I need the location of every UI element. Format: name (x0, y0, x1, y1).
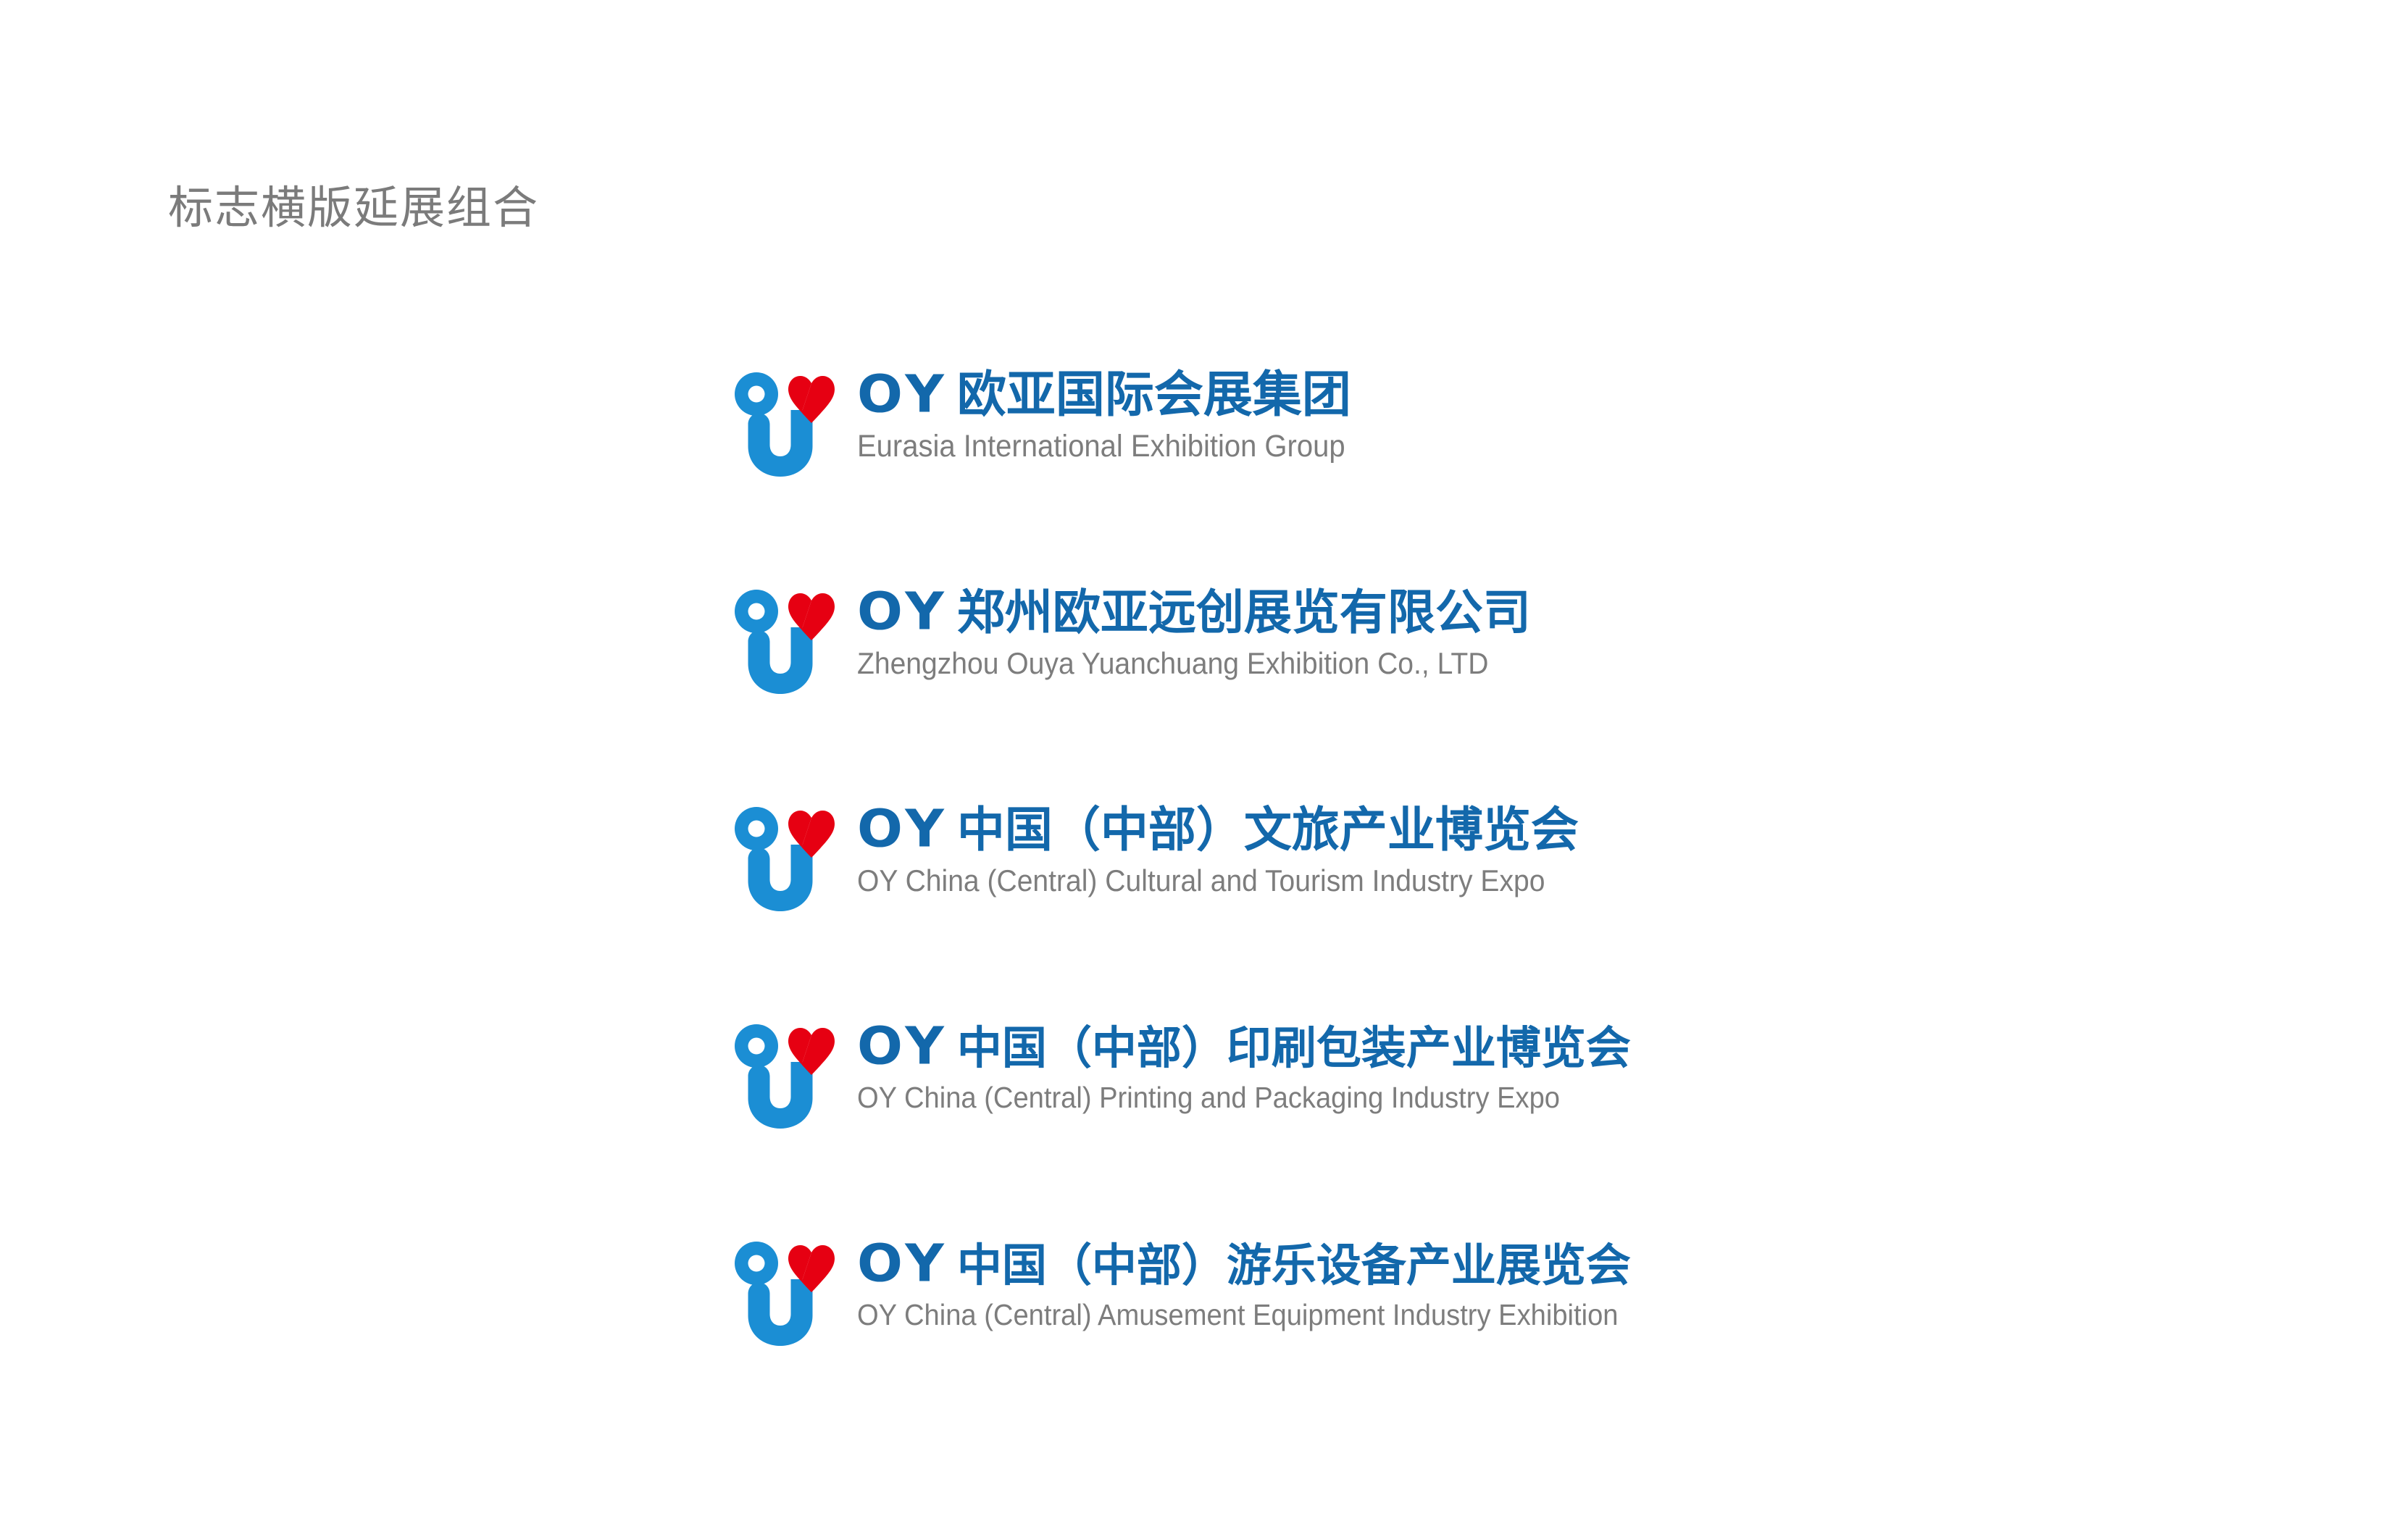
oy-wordmark: OY (857, 586, 948, 637)
lockup-english-tagline: Eurasia International Exhibition Group (857, 430, 2152, 463)
logo-lockup-zhengzhou-ouya-yuanchuang: OY 郑州欧亚远创展览有限公司 Zhengzhou Ouya Yuanchuan… (728, 579, 2250, 695)
lockup-chinese-name: 郑州欧亚远创展览有限公司 (957, 589, 1531, 637)
lockup-text-block: OY 中国（中部）文旅产业博览会 OY China (Central) Cult… (838, 797, 2250, 897)
lockup-primary-line: OY 欧亚国际会展集团 (857, 367, 2250, 420)
logo-lockup-list: OY 欧亚国际会展集团 Eurasia International Exhibi… (728, 362, 2250, 1347)
oy-logo-mark-icon (728, 807, 838, 914)
lockup-primary-line: OY 中国（中部）印刷包装产业博览会 (857, 1018, 2250, 1072)
lockup-chinese-name: 中国（中部）文旅产业博览会 (957, 806, 1579, 854)
lockup-text-block: OY 欧亚国际会展集团 Eurasia International Exhibi… (838, 362, 2250, 463)
lockup-english-tagline: OY China (Central) Printing and Packagin… (857, 1082, 2152, 1113)
lockup-chinese-name: 欧亚国际会展集团 (957, 371, 1351, 420)
lockup-text-block: OY 中国（中部）印刷包装产业博览会 OY China (Central) Pr… (838, 1014, 2250, 1113)
logo-lockup-printing-packaging-expo: OY 中国（中部）印刷包装产业博览会 OY China (Central) Pr… (728, 1014, 2250, 1130)
oy-logo-mark-icon (728, 372, 838, 480)
oy-wordmark: OY (857, 369, 948, 420)
oy-logo-mark-icon (728, 1024, 838, 1131)
lockup-primary-line: OY 中国（中部）文旅产业博览会 (857, 801, 2250, 855)
oy-logo-mark-icon (728, 1242, 838, 1349)
lockup-primary-line: OY 郑州欧亚远创展览有限公司 (857, 584, 2250, 637)
oy-logo-mark-icon (728, 590, 838, 697)
logo-lockup-cultural-tourism-expo: OY 中国（中部）文旅产业博览会 OY China (Central) Cult… (728, 797, 2250, 913)
oy-wordmark: OY (857, 803, 948, 855)
lockup-english-tagline: OY China (Central) Amusement Equipment I… (857, 1300, 2152, 1331)
lockup-chinese-name: 中国（中部）印刷包装产业博览会 (957, 1026, 1631, 1071)
lockup-primary-line: OY 中国（中部）游乐设备产业展览会 (857, 1236, 2250, 1289)
lockup-english-tagline: OY China (Central) Cultural and Tourism … (857, 865, 2152, 897)
logo-lockup-amusement-equipment-exhibition: OY 中国（中部）游乐设备产业展览会 OY China (Central) Am… (728, 1231, 2250, 1347)
lockup-chinese-name: 中国（中部）游乐设备产业展览会 (957, 1243, 1631, 1288)
oy-wordmark: OY (857, 1021, 948, 1072)
logo-lockup-eurasia-international-exhibition-group: OY 欧亚国际会展集团 Eurasia International Exhibi… (728, 362, 2250, 478)
oy-wordmark: OY (857, 1238, 948, 1289)
lockup-text-block: OY 中国（中部）游乐设备产业展览会 OY China (Central) Am… (838, 1231, 2250, 1331)
lockup-english-tagline: Zhengzhou Ouya Yuanchuang Exhibition Co.… (857, 648, 2152, 679)
page-title: 标志横版延展组合 (168, 186, 539, 231)
lockup-text-block: OY 郑州欧亚远创展览有限公司 Zhengzhou Ouya Yuanchuan… (838, 579, 2250, 679)
